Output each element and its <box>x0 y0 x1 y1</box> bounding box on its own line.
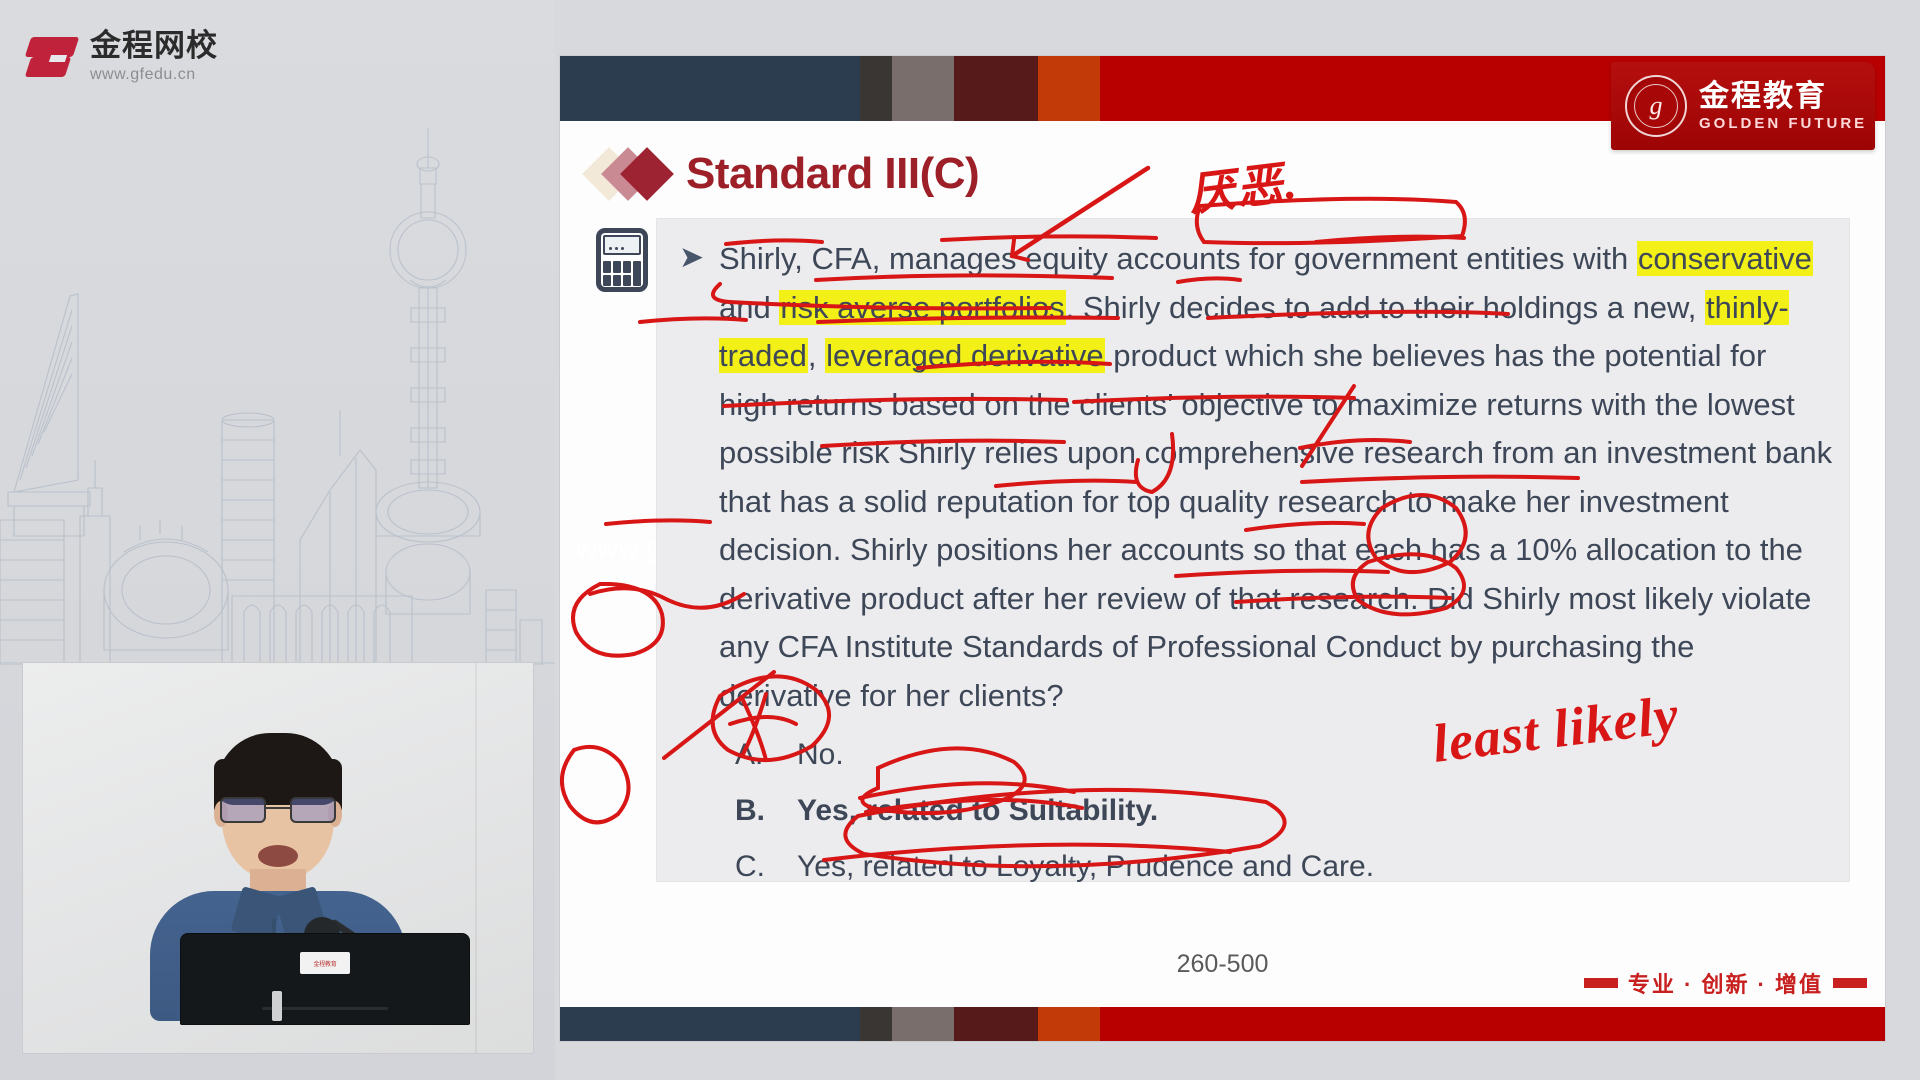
footer-band-maroon <box>954 1007 1038 1041</box>
badge-name-en: GOLDEN FUTURE <box>1699 115 1867 132</box>
footer-band-navy <box>560 1007 860 1041</box>
seal-monogram: g <box>1627 77 1685 135</box>
glasses-icon <box>218 797 338 823</box>
highlighted-text: conservative <box>1637 241 1813 276</box>
option-label: A. <box>735 727 797 783</box>
laptop-badge-label: 金程教育 <box>300 952 350 974</box>
footer-band-red <box>1100 1007 1885 1041</box>
footer-band-dark <box>860 1007 892 1041</box>
header-band-orange <box>1038 56 1100 121</box>
calculator-icon <box>596 228 648 292</box>
option-text: Yes, related to Suitability. <box>797 783 1158 839</box>
brand-name-cn: 金程网校 <box>90 30 218 63</box>
diamond-bullet-icon <box>590 148 668 200</box>
slide-title-row: Standard III(C) <box>590 148 979 200</box>
arrow-bullet-icon: ➤ <box>679 243 704 273</box>
presenter-avatar-icon: 金程教育 <box>118 719 438 1019</box>
wall-seam <box>475 663 477 1053</box>
shanghai-skyline-illustration <box>0 120 555 665</box>
paragraph-text: product which she believes has the poten… <box>719 338 1832 713</box>
paragraph-text: . Shirly decides to add to their holding… <box>1066 290 1705 325</box>
brand-text: 金程网校 www.gfedu.cn <box>90 30 218 84</box>
brand-lockup: 金程网校 www.gfedu.cn <box>28 30 218 84</box>
answer-options-list: A.No.B.Yes, related to Suitability.C.Yes… <box>735 727 1833 895</box>
paragraph-text: and <box>719 290 779 325</box>
header-band-dark <box>860 56 892 121</box>
presenter-video[interactable]: 金程教育 <box>22 662 534 1054</box>
answer-option[interactable]: B.Yes, related to Suitability. <box>735 783 1833 839</box>
laptop-icon: 金程教育 <box>180 933 470 1025</box>
handwriting-annotation-cn: 厌恶. <box>1184 146 1301 225</box>
left-sidebar-panel: 金程网校 www.gfedu.cn <box>0 0 555 1080</box>
question-content-box: ➤ Shirly, CFA, manages equity accounts f… <box>656 218 1850 882</box>
page-title: Standard III(C) <box>686 149 979 199</box>
footer-slogan: 专业 · 创新 · 增值 <box>1584 967 1867 999</box>
highlighted-text: leveraged derivative <box>825 338 1104 373</box>
option-text: Yes, related to Loyalty, Prudence and Ca… <box>797 839 1374 895</box>
badge-name-cn: 金程教育 <box>1699 80 1867 113</box>
golden-future-seal-icon: g <box>1625 75 1687 137</box>
header-band-gray <box>892 56 954 121</box>
question-paragraph: Shirly, CFA, manages equity accounts for… <box>719 235 1833 720</box>
brand-url: www.gfedu.cn <box>90 66 218 84</box>
slogan-bar-right <box>1833 978 1867 988</box>
footer-band-gray <box>892 1007 954 1041</box>
option-label: B. <box>735 783 797 839</box>
header-band-maroon <box>954 56 1038 121</box>
badge-text: 金程教育 GOLDEN FUTURE <box>1699 80 1867 132</box>
gf-logo-icon <box>28 33 76 81</box>
presentation-slide: www.gfedu.net g 金程教育 GOLDEN FUTURE Stand… <box>560 56 1885 1041</box>
header-band-navy <box>560 56 860 121</box>
slide-footer-bar <box>560 1007 1885 1041</box>
slogan-text: 专业 · 创新 · 增值 <box>1628 967 1823 999</box>
highlighted-text: risk averse portfolios <box>779 290 1065 325</box>
option-label: C. <box>735 839 797 895</box>
option-text: No. <box>797 727 844 783</box>
slogan-bar-left <box>1584 978 1618 988</box>
paragraph-text: Shirly, CFA, manages equity accounts for… <box>719 241 1637 276</box>
answer-option[interactable]: C.Yes, related to Loyalty, Prudence and … <box>735 839 1833 895</box>
paragraph-text: , <box>808 338 825 373</box>
golden-future-badge: g 金程教育 GOLDEN FUTURE <box>1611 62 1875 150</box>
screen-root: 金程网校 www.gfedu.cn <box>0 0 1920 1080</box>
footer-band-orange <box>1038 1007 1100 1041</box>
